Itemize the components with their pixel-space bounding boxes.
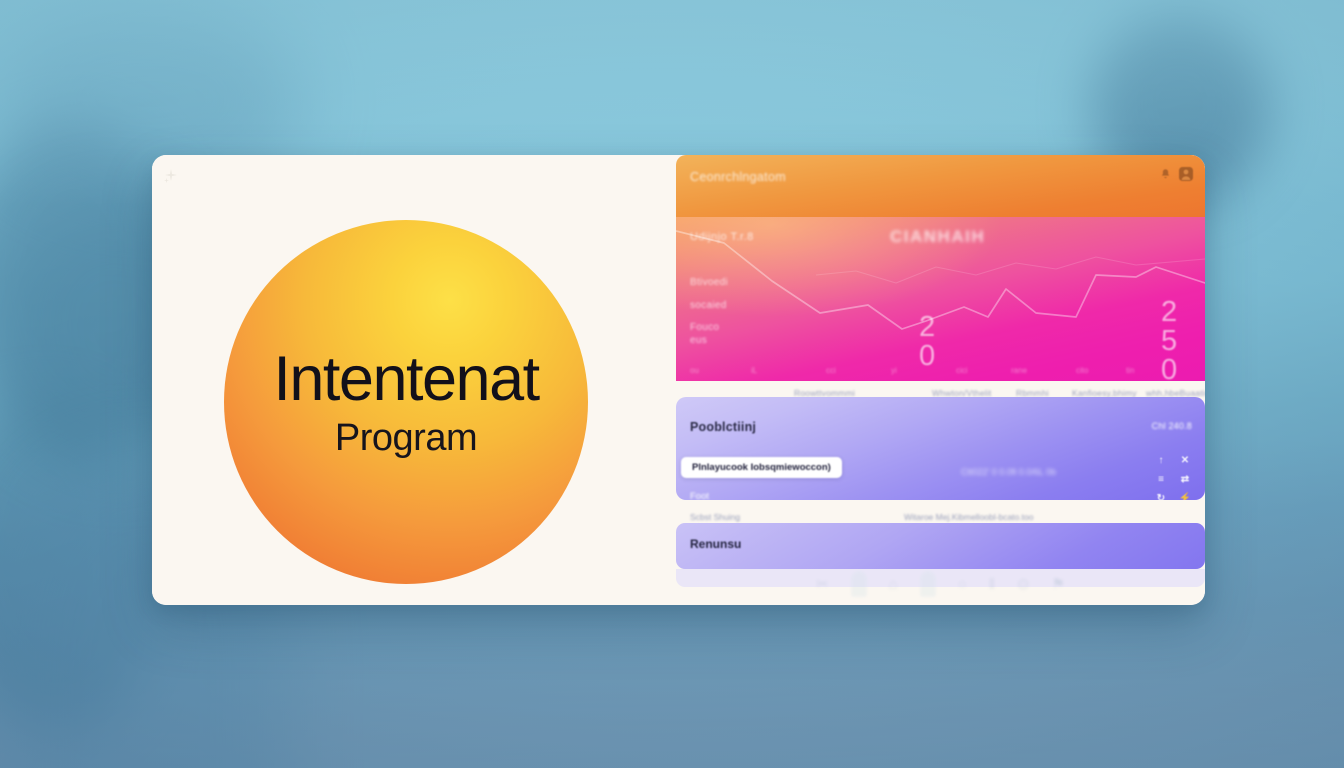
close-icon[interactable]: ✕ bbox=[1181, 455, 1189, 466]
brand-subtitle: Program bbox=[335, 419, 477, 457]
analytics-metric-row: socaied bbox=[690, 300, 727, 311]
analytics-metric-row: eus bbox=[690, 335, 707, 346]
bolt-icon[interactable]: ⚡ bbox=[1179, 493, 1191, 500]
analytics-big-number: 2 bbox=[919, 314, 935, 341]
analytics-panel: Udijnjo T.r.8 CIANHAIH Btivoedi socaied … bbox=[676, 217, 1205, 381]
main-card: Intentenat Program Ceonrchlngatom bbox=[152, 155, 1205, 605]
pill-icon-1[interactable] bbox=[851, 571, 867, 597]
upload-icon[interactable]: ↑ bbox=[1159, 455, 1164, 466]
productivity-panel-title: Pooblctiinj bbox=[690, 420, 756, 434]
analytics-axis-tick: ou bbox=[690, 366, 699, 375]
screenshot-stage: Intentenat Program Ceonrchlngatom bbox=[0, 0, 1344, 768]
pill-icon-2[interactable] bbox=[920, 571, 936, 597]
resources-panel[interactable]: Renunsu bbox=[676, 523, 1205, 569]
list-icon[interactable]: ≡ bbox=[1158, 474, 1164, 485]
avatar-icon[interactable] bbox=[1178, 166, 1194, 182]
bell-icon[interactable] bbox=[1159, 168, 1172, 181]
flag-icon[interactable]: ⚑ bbox=[1052, 575, 1065, 593]
panel-action-icons[interactable]: ↑ ✕ ≡ ⇄ ↻ ⚡ bbox=[1149, 451, 1197, 500]
analytics-axis-tick: iL bbox=[751, 366, 757, 375]
panel-header-icons[interactable] bbox=[1159, 166, 1194, 182]
resources-panel-title: Renunsu bbox=[690, 537, 741, 551]
analytics-axis-tick: cito bbox=[1076, 366, 1088, 375]
sparkle-icon bbox=[163, 168, 179, 184]
analytics-axis-tick: cici bbox=[956, 366, 968, 375]
column-header: Scbst Shuing bbox=[690, 512, 740, 522]
brand-title: Intentenat bbox=[273, 348, 538, 411]
productivity-panel-center-meta: Ctt022' 0 0.0fi 0.0/6L 0b bbox=[961, 467, 1056, 477]
analytics-big-number: 2 bbox=[1161, 299, 1177, 326]
analytics-axis-tick: yi bbox=[891, 366, 897, 375]
columns-icon[interactable]: ‖ bbox=[989, 576, 995, 593]
analytics-axis-tick: tin bbox=[1126, 366, 1134, 375]
analytics-big-number: 0 bbox=[919, 343, 935, 370]
productivity-panel[interactable]: Pooblctiinj Chl 240.8 Ctt022' 0 0.0fi 0.… bbox=[676, 397, 1205, 500]
brand-logo-circle: Intentenat Program bbox=[224, 220, 588, 584]
analytics-metric-row: Fouco bbox=[690, 322, 719, 333]
refresh-icon[interactable]: ↻ bbox=[1157, 493, 1165, 500]
analytics-label: Udijnjo T.r.8 bbox=[690, 231, 754, 243]
shuffle-icon[interactable]: ⇄ bbox=[1181, 474, 1189, 485]
bank-icon[interactable]: ⌂ bbox=[889, 576, 898, 593]
bottom-toolbar[interactable]: ✂ ⌂ ○ ‖ ⊙ ⚑ bbox=[676, 566, 1205, 602]
panel-header-title: Ceonrchlngatom bbox=[690, 170, 786, 184]
status-badge[interactable]: Plnlayucook Iobsqmiewoccon) bbox=[681, 457, 842, 478]
brand-pane: Intentenat Program bbox=[152, 155, 676, 605]
analytics-headline: CIANHAIH bbox=[890, 227, 985, 247]
clock-icon[interactable]: ○ bbox=[958, 576, 967, 593]
panel-header: Ceonrchlngatom bbox=[676, 155, 1205, 217]
scissors-icon[interactable]: ✂ bbox=[816, 575, 829, 593]
column-header: Witaroe Mej.Kibmelloobl-bcato.too bbox=[904, 512, 1033, 522]
productivity-panel-meta: Chl 240.8 bbox=[1152, 421, 1192, 431]
productivity-panel-sub-label: Foot bbox=[690, 491, 709, 500]
analytics-metric-row: Btivoedi bbox=[690, 277, 728, 288]
analytics-big-number: 5 bbox=[1161, 328, 1177, 355]
globe-icon[interactable]: ⊙ bbox=[1017, 575, 1030, 593]
analytics-axis-tick: cci bbox=[826, 366, 836, 375]
analytics-axis-tick: rane bbox=[1011, 366, 1027, 375]
analytics-big-number: 0 bbox=[1161, 357, 1177, 381]
dashboard-pane: Ceonrchlngatom bbox=[676, 155, 1205, 605]
